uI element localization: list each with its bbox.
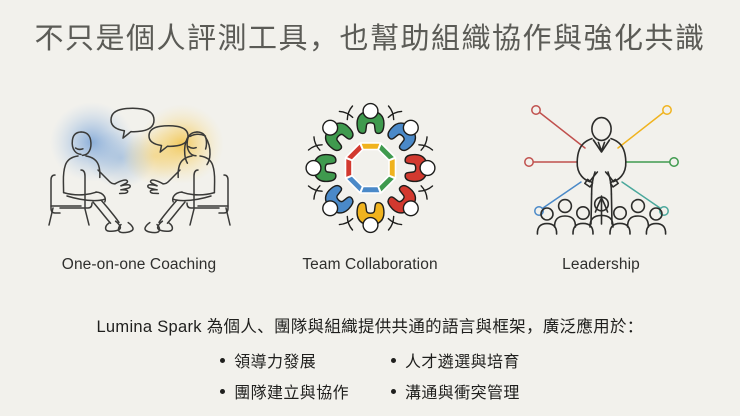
bullet-dot-icon: [220, 389, 225, 394]
list-item: 溝通與衝突管理: [391, 379, 520, 403]
bullet-column-right: 人才遴選與培育 溝通與衝突管理: [391, 348, 520, 403]
bullet-dot-icon: [220, 358, 225, 363]
panel-caption-coaching: One-on-one Coaching: [62, 256, 216, 274]
panel-caption-team: Team Collaboration: [302, 256, 437, 274]
list-item: 團隊建立與協作: [220, 379, 349, 403]
panel-team-collaboration: Team Collaboration: [259, 96, 481, 274]
bullet-dot-icon: [391, 358, 396, 363]
two-people-seated-conversation-icon: [37, 96, 242, 244]
page-title: 不只是個人評測工具，也幫助組織協作與強化共識: [0, 22, 740, 57]
slide-canvas: 不只是個人評測工具，也幫助組織協作與強化共識: [0, 0, 740, 416]
application-bullet-list: 領導力發展 團隊建立與協作 人才遴選與培育 溝通與衝突管理: [0, 348, 740, 403]
summary-block: Lumina Spark 為個人、團隊與組織提供共通的語言與框架，廣泛應用於： …: [0, 313, 740, 403]
leader-with-audience-and-radiating-lines-icon: [499, 96, 704, 244]
bullet-label: 人才遴選與培育: [405, 348, 520, 372]
panel-caption-leadership: Leadership: [562, 256, 640, 274]
eight-people-circle-color-wheel-icon: [268, 96, 473, 244]
bullet-label: 溝通與衝突管理: [405, 379, 520, 403]
list-item: 人才遴選與培育: [391, 348, 520, 372]
panel-one-on-one-coaching: One-on-one Coaching: [28, 96, 250, 274]
list-item: 領導力發展: [220, 348, 349, 372]
illustration-panels: One-on-one Coaching: [28, 96, 712, 291]
bullet-dot-icon: [391, 389, 396, 394]
panel-leadership: Leadership: [490, 96, 712, 274]
bullet-column-left: 領導力發展 團隊建立與協作: [220, 348, 349, 403]
summary-lead-text: Lumina Spark 為個人、團隊與組織提供共通的語言與框架，廣泛應用於：: [0, 313, 740, 337]
bullet-label: 領導力發展: [234, 348, 316, 372]
bullet-label: 團隊建立與協作: [234, 379, 349, 403]
